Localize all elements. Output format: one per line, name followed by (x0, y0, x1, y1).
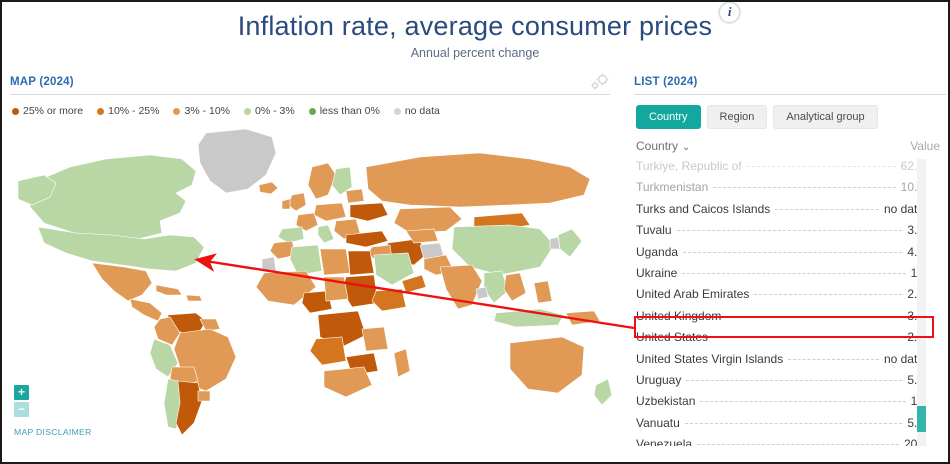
legend-swatch-3-10 (173, 108, 180, 115)
row-leader-dots (700, 401, 905, 402)
country-ukraine (350, 203, 388, 221)
country-canada (30, 155, 196, 239)
row-leader-dots (754, 294, 902, 295)
legend-label: 10% - 25% (108, 105, 159, 117)
page-subtitle: Annual percent change (2, 46, 948, 60)
list-scrollbar-thumb[interactable] (917, 406, 926, 432)
row-leader-dots (686, 380, 902, 381)
row-country-name: Uzbekistan (636, 394, 695, 408)
row-leader-dots (775, 209, 879, 210)
country-united-kingdom (288, 193, 306, 211)
list-panel: LIST (2024) Country Region Analytical gr… (634, 76, 946, 462)
row-country-name: Tuvalu (636, 223, 672, 237)
legend-item[interactable]: less than 0% (309, 105, 380, 117)
country-korea (550, 237, 560, 249)
legend-label: 3% - 10% (184, 105, 230, 117)
row-country-name: Uruguay (636, 373, 681, 387)
country-mexico (92, 263, 152, 301)
legend-item[interactable]: 0% - 3% (244, 105, 295, 117)
list-row[interactable]: United Arab Emirates 2.3 (634, 287, 926, 308)
tab-analytical-group[interactable]: Analytical group (773, 105, 877, 129)
row-leader-dots (713, 187, 895, 188)
list-row[interactable]: Turkiye, Republic of 62.5 (634, 159, 926, 180)
chevron-down-icon: ⌄ (682, 142, 690, 153)
country-vietnam (504, 273, 526, 301)
country-japan (558, 229, 582, 257)
country-germany-poland (314, 203, 346, 221)
map-panel: MAP (2024) (10, 76, 616, 462)
row-country-name: Venezuela (636, 437, 692, 446)
row-leader-dots (683, 252, 902, 253)
country-uruguay (198, 391, 210, 401)
legend-label: 0% - 3% (255, 105, 295, 117)
country-egypt (348, 251, 374, 275)
country-new-zealand (594, 379, 612, 405)
row-country-name: United States Virgin Islands (636, 352, 783, 366)
page-title: Inflation rate, average consumer prices … (238, 6, 713, 44)
info-icon[interactable]: i (719, 2, 740, 23)
row-country-name: United States (636, 330, 708, 344)
list-row[interactable]: United Kingdom 3.7 (634, 309, 926, 330)
legend-swatch-no-data (394, 108, 401, 115)
country-sudan (342, 275, 378, 307)
map-panel-title: MAP (2024) (10, 76, 74, 88)
legend-swatch-25-or-more (12, 108, 19, 115)
list-row[interactable]: Turks and Caicos Islands no data (634, 202, 926, 223)
country-central-america (130, 299, 162, 321)
country-norway-sweden (308, 163, 336, 199)
country-western-sahara (262, 257, 276, 271)
country-list[interactable]: Turkiye, Republic of 62.5 Turkmenistan 1… (634, 159, 926, 446)
legend-label: no data (405, 105, 440, 117)
list-panel-header: LIST (2024) (634, 76, 946, 94)
country-somalia-grey (476, 287, 488, 299)
legend-swatch-0-3 (244, 108, 251, 115)
country-baltics (346, 189, 364, 203)
country-libya (320, 249, 350, 275)
legend-item[interactable]: 10% - 25% (97, 105, 159, 117)
legend-swatch-less-than-0 (309, 108, 316, 115)
row-country-name: United Kingdom (636, 309, 721, 323)
row-leader-dots (697, 444, 899, 445)
row-country-name: Ukraine (636, 266, 677, 280)
tab-country[interactable]: Country (636, 105, 701, 129)
row-leader-dots (713, 337, 902, 338)
country-argentina (176, 381, 202, 435)
list-row[interactable]: Venezuela 200 (634, 437, 926, 446)
country-iceland (259, 182, 278, 194)
country-papua (566, 311, 600, 325)
list-row[interactable]: Vanuatu 5.7 (634, 416, 926, 437)
country-tanzania (362, 327, 388, 351)
country-hispaniola (186, 295, 202, 301)
country-indonesia (494, 309, 564, 327)
country-spain (278, 227, 304, 243)
list-panel-title: LIST (2024) (634, 76, 698, 88)
list-row[interactable]: Tuvalu 3.8 (634, 223, 926, 244)
map-legend: 25% or more 10% - 25% 3% - 10% 0% - 3% l… (10, 95, 616, 123)
country-cuba (156, 285, 182, 295)
country-madagascar (394, 349, 410, 377)
country-south-africa (324, 367, 372, 397)
list-row[interactable]: Uzbekistan 10 (634, 394, 926, 415)
row-leader-dots (677, 230, 903, 231)
legend-swatch-10-25 (97, 108, 104, 115)
country-kazakhstan (394, 207, 462, 233)
world-choropleth-map[interactable]: + − MAP DISCLAIMER (10, 123, 616, 441)
country-ethiopia (372, 289, 406, 311)
map-disclaimer-link[interactable]: MAP DISCLAIMER (14, 427, 92, 437)
row-leader-dots (726, 316, 902, 317)
map-panel-header: MAP (2024) (10, 76, 616, 94)
country-chad (324, 277, 348, 301)
country-algeria (290, 245, 322, 275)
country-angola (310, 337, 346, 365)
map-zoom-controls[interactable]: + − (14, 385, 29, 419)
legend-label: 25% or more (23, 105, 83, 117)
row-leader-dots (685, 423, 902, 424)
row-country-name: Turks and Caicos Islands (636, 202, 770, 216)
zoom-out-button[interactable]: − (14, 402, 29, 417)
country-australia (510, 337, 584, 393)
list-row-united-states[interactable]: United States 2.8 (634, 330, 926, 351)
map-svg (10, 123, 616, 441)
row-leader-dots (747, 166, 896, 167)
legend-label: less than 0% (320, 105, 380, 117)
list-row[interactable]: United States Virgin Islands no data (634, 352, 926, 373)
row-leader-dots (788, 359, 879, 360)
list-scrollbar[interactable] (917, 159, 926, 446)
list-row[interactable]: Turkmenistan 10.5 (634, 180, 926, 201)
column-header-country[interactable]: Country⌄ (636, 139, 690, 153)
column-header-value[interactable]: Value (910, 139, 940, 153)
legend-item[interactable]: 3% - 10% (173, 105, 230, 117)
page-title-text: Inflation rate, average consumer prices (238, 11, 713, 41)
row-country-name: United Arab Emirates (636, 287, 749, 301)
gear-icon[interactable] (588, 73, 610, 93)
list-row[interactable]: Ukraine 13 (634, 266, 926, 287)
page-header: Inflation rate, average consumer prices … (2, 6, 948, 68)
row-country-name: Uganda (636, 245, 678, 259)
country-italy (318, 225, 334, 243)
list-row[interactable]: Uganda 4.7 (634, 245, 926, 266)
imf-datamapper-app: Inflation rate, average consumer prices … (0, 0, 950, 464)
list-tabs: Country Region Analytical group (634, 95, 946, 137)
column-header-country-label: Country (636, 139, 678, 153)
country-greenland (198, 129, 276, 193)
tab-region[interactable]: Region (707, 105, 768, 129)
legend-item[interactable]: no data (394, 105, 440, 117)
row-country-name: Vanuatu (636, 416, 680, 430)
country-russia (366, 153, 590, 207)
country-india (440, 265, 482, 309)
row-country-name: Turkmenistan (636, 180, 708, 194)
row-leader-dots (682, 273, 905, 274)
legend-item[interactable]: 25% or more (12, 105, 83, 117)
list-row[interactable]: Uruguay 5.9 (634, 373, 926, 394)
zoom-in-button[interactable]: + (14, 385, 29, 400)
row-country-name: Turkiye, Republic of (636, 159, 742, 173)
country-philippines (534, 281, 552, 303)
list-column-headers: Country⌄ Value (634, 137, 946, 159)
country-ireland (282, 199, 290, 209)
